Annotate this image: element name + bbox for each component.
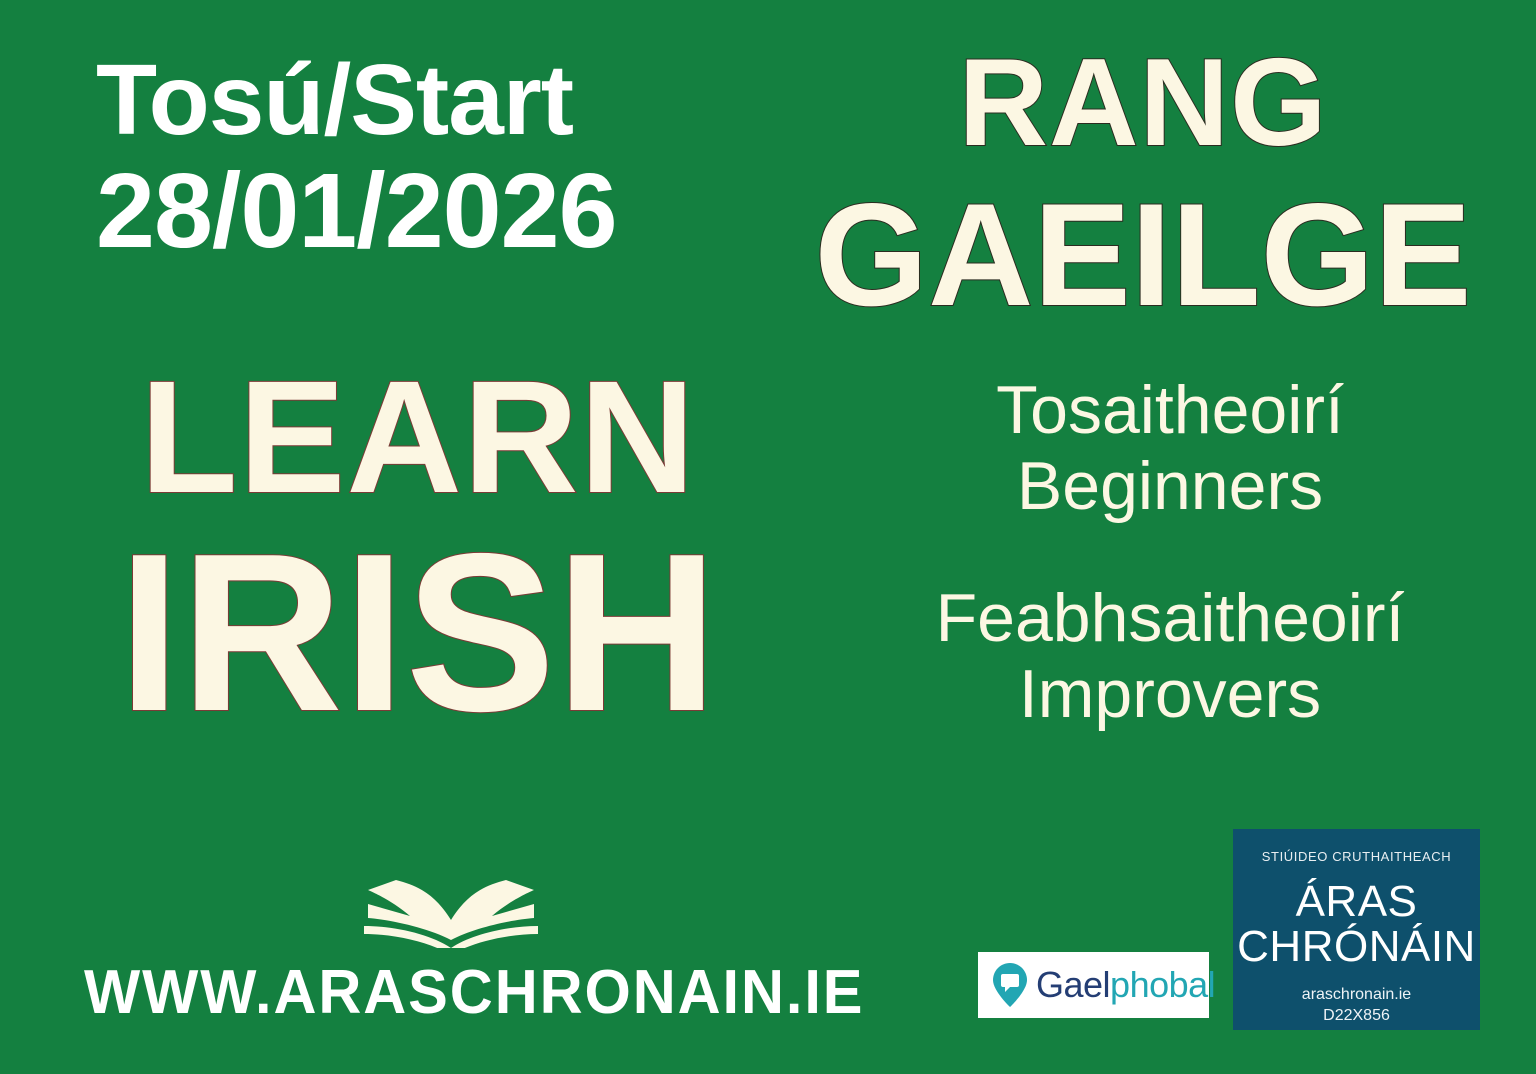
level-beginners-irish: Tosaitheoirí [880, 372, 1460, 448]
level-improvers: Feabhsaitheoirí Improvers [880, 580, 1460, 732]
aras-kicker: STIÚIDEO CRUTHAITHEACH [1233, 849, 1480, 864]
gaelphobal-word-part-1: Gael [1036, 964, 1110, 1005]
level-beginners: Tosaitheoirí Beginners [880, 372, 1460, 524]
level-improvers-english: Improvers [880, 656, 1460, 732]
learn-line-2: IRISH [78, 518, 758, 748]
gaelphobal-word-part-2: phobal [1110, 964, 1215, 1005]
level-improvers-irish: Feabhsaitheoirí [880, 580, 1460, 656]
aras-website: araschronain.ie [1233, 984, 1480, 1006]
level-beginners-english: Beginners [880, 448, 1460, 524]
gaelphobal-logo[interactable]: Gaelphobal [978, 952, 1209, 1018]
headline-line-2: GAEILGE [798, 173, 1488, 337]
gaelphobal-wordmark: Gaelphobal [1036, 964, 1215, 1006]
open-book-icon [358, 856, 544, 948]
poster-canvas: Tosú/Start 28/01/2026 RANG GAEILGE LEARN… [0, 0, 1536, 1074]
start-date-block: Tosú/Start 28/01/2026 [96, 46, 756, 268]
start-label: Tosú/Start [96, 46, 756, 154]
headline-line-1: RANG [798, 34, 1488, 173]
aras-chronain-logo[interactable]: STIÚIDEO CRUTHAITHEACH ÁRAS CHRÓNÁIN ara… [1233, 829, 1480, 1030]
aras-eircode: D22X856 [1233, 1005, 1480, 1027]
start-date: 28/01/2026 [96, 154, 756, 268]
map-pin-icon [992, 962, 1028, 1008]
aras-name-line-2: CHRÓNÁIN [1233, 925, 1480, 970]
levels-block: Tosaitheoirí Beginners Feabhsaitheoirí I… [880, 372, 1460, 789]
website-url[interactable]: WWW.ARASCHRONAIN.IE [84, 957, 864, 1028]
headline-block: RANG GAEILGE [798, 34, 1488, 336]
aras-name-line-1: ÁRAS [1233, 880, 1480, 925]
learn-line-1: LEARN [78, 355, 758, 518]
learn-irish-block: LEARN IRISH [78, 355, 758, 748]
